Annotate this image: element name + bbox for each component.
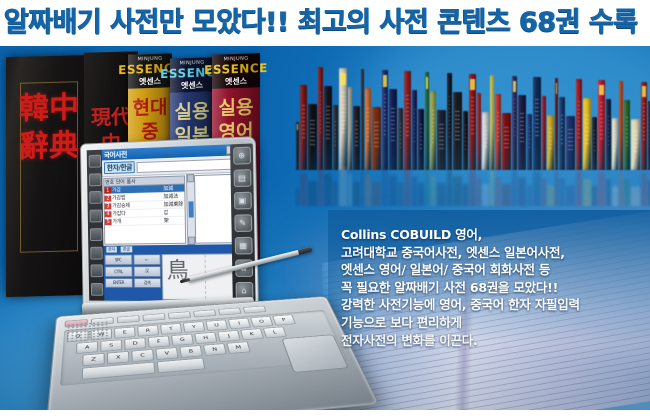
book-spine-mirror (361, 168, 364, 206)
book-spine-band (297, 124, 298, 130)
side-icon-2[interactable] (88, 173, 100, 186)
col-header-num: 번호 (104, 179, 115, 186)
book-spine-mirror (447, 169, 453, 206)
copy-line-1: Collins COBUILD 영어, (341, 226, 641, 244)
book-spine (418, 109, 425, 170)
book-spine-mirror (606, 179, 610, 206)
key-r[interactable]: R (137, 325, 159, 337)
key-o[interactable]: O (250, 316, 274, 327)
book-spine-mirror (612, 186, 619, 206)
function-key-f5[interactable] (193, 309, 217, 317)
book-spine-mirror (469, 170, 477, 206)
search-mode-tag[interactable]: 한자/한글 (104, 161, 135, 174)
enter-key[interactable] (157, 358, 206, 374)
hw-key-back[interactable]: ← (133, 254, 161, 265)
headline-band: 알짜배기 사전만 모았다!! 최고의 사전 콘텐츠 68권 수록 (0, 0, 650, 46)
book-spine-mirror (463, 184, 468, 206)
book-spine-mirror (425, 169, 428, 206)
side-icon-7[interactable] (90, 265, 103, 278)
book-spine-band (426, 77, 427, 89)
navigation-pad[interactable] (281, 334, 349, 373)
book-spine-band (383, 75, 387, 87)
key-d[interactable]: D (124, 337, 146, 349)
row-reading: 架 (164, 217, 185, 224)
copy-line-4: 꼭 필요한 알짜배기 사전 68권을 모았다!! (341, 279, 641, 297)
book-spine (382, 70, 388, 170)
row-word: 가감법 (112, 193, 163, 201)
book-spine-mirror (372, 182, 381, 206)
key-l[interactable]: L (263, 326, 287, 338)
lcd-screen[interactable]: 국어사전 한자/한글 (102, 144, 251, 302)
book-spine-mirror (619, 172, 622, 206)
function-key-f6[interactable] (218, 308, 242, 316)
book-spine (453, 92, 461, 170)
row-reading: 갑 (164, 209, 185, 216)
bookmark-icon[interactable]: ▣ (233, 191, 251, 209)
screen-right-icon-strip[interactable]: ⊕ ▤ ▣ ✎ ▦ ✿ ⌂ (230, 143, 256, 301)
grid-icon[interactable]: ▦ (234, 236, 252, 254)
hw-key-ctrl[interactable]: CTRL (105, 266, 132, 277)
book-spine (559, 97, 565, 170)
book-spine (398, 108, 403, 170)
book-spine-mirror (566, 185, 575, 206)
col-header-word: 단어 (115, 178, 126, 185)
book-spine (592, 117, 597, 170)
book-spine-mirror (542, 178, 546, 206)
function-key-f3[interactable] (142, 313, 165, 321)
book-icon[interactable]: ▤ (233, 169, 251, 187)
book-spine (404, 71, 412, 170)
key-c[interactable]: C (131, 349, 154, 362)
key-v[interactable]: V (155, 347, 178, 360)
book-spine-mirror (490, 170, 493, 206)
tab-hangul[interactable]: 한글 (120, 245, 133, 253)
tab-hanja[interactable]: 한자 (105, 246, 118, 254)
book-spine-mirror (559, 178, 565, 206)
hero-photo: 韓中辭典 現代中 MINJUNG ESSENCE 엣센스 현대중 MINJUNG… (0, 46, 650, 410)
copy-line-5: 강력한 사전기능에 영어, 중국어 한자 자필입력 (341, 296, 641, 314)
book-spine-mirror (365, 175, 371, 206)
row-number: 5 (105, 219, 112, 225)
book-spine (533, 77, 541, 170)
book-spine-mirror (533, 171, 541, 206)
side-icon-4[interactable] (89, 210, 101, 223)
row-word: 가갑다 (112, 209, 163, 217)
row-number: 2 (104, 195, 111, 201)
hw-key-search[interactable]: 검색 (133, 278, 161, 289)
scrollbar-thumb[interactable] (189, 201, 194, 217)
book-spine-band (556, 83, 557, 94)
word-list-row[interactable]: 5 가개 架 (105, 217, 185, 226)
page-title: 알짜배기 사전만 모았다!! 최고의 사전 콘텐츠 68권 수록 (4, 2, 650, 44)
book-spine (624, 100, 630, 170)
book-spine-mirror (353, 182, 360, 206)
row-word: 가개 (112, 217, 163, 225)
book-spine (566, 116, 575, 170)
row-reading: 加減乘除 (164, 201, 185, 209)
hw-key-enter[interactable]: ENTER (105, 278, 133, 289)
col-header-pos: 품사 (126, 178, 137, 185)
copy-line-6: 기능으로 보다 편리하게 (341, 314, 641, 332)
key-j[interactable]: J (217, 330, 241, 342)
book-spine-mirror (592, 186, 597, 206)
function-key-f7[interactable] (243, 306, 267, 314)
row-number: 3 (105, 203, 112, 209)
bottom-white-strip (0, 410, 650, 420)
handwriting-panel[interactable]: SPC ← CTRL 汉 ENTER 검색 鳥 (104, 252, 251, 301)
book-spine-mirror (527, 185, 532, 206)
book-spine-mirror (624, 179, 630, 206)
key-p[interactable]: P (272, 314, 296, 325)
book-spine-mirror (398, 182, 403, 206)
app-title: 국어사전 (104, 149, 127, 160)
book-spine-mirror (453, 176, 461, 206)
key-e[interactable]: E (114, 327, 136, 339)
book-spine (631, 119, 640, 170)
book-spine-mirror (437, 183, 446, 206)
copy-line-2: 고려대학교 중국어사전, 엣센스 일본어사전, (341, 244, 641, 262)
key-k[interactable]: K (240, 328, 264, 340)
book-spine-band (340, 73, 346, 85)
book-spine (469, 74, 477, 170)
book-spine (425, 72, 428, 170)
function-key-f2[interactable] (117, 315, 140, 323)
key-z[interactable]: Z (82, 353, 105, 366)
speaker-grille (66, 321, 109, 342)
book-spine-mirror (547, 185, 554, 206)
book-spine (353, 106, 360, 170)
device-lid: 국어사전 한자/한글 (80, 136, 259, 311)
key-n[interactable]: N (203, 343, 227, 356)
book-spine-mirror (477, 177, 481, 206)
book-spine-mirror (502, 184, 511, 206)
key-u[interactable]: U (205, 320, 228, 332)
side-icon-3[interactable] (89, 191, 101, 204)
book-spine (365, 88, 371, 170)
book-spine-mirror (576, 171, 582, 206)
lcd-body: 번호 단어 품사 1 가감 加減 2 (102, 172, 249, 245)
hw-key-spc[interactable]: SPC (105, 254, 132, 265)
book-spine (518, 95, 526, 170)
book-spine (641, 82, 647, 170)
book-spine (412, 90, 416, 170)
hw-key-hanja[interactable]: 汉 (133, 266, 161, 277)
promo-banner: 알짜배기 사전만 모았다!! 최고의 사전 콘텐츠 68권 수록 韓中辭典 現代… (0, 0, 650, 420)
key-m[interactable]: M (226, 341, 250, 354)
key-f[interactable]: F (148, 336, 171, 348)
key-x[interactable]: X (107, 351, 130, 364)
book-spine (463, 111, 468, 170)
row-number: 4 (105, 211, 112, 217)
book-spine (482, 112, 489, 170)
book-spine (527, 114, 532, 170)
copy-line-3: 엣센스 영어/ 일본어/ 중국어 회화사전 등 (341, 261, 641, 279)
electronic-dictionary-device: 국어사전 한자/한글 (60, 140, 350, 410)
book-spine (512, 76, 518, 170)
screen-bezel: 국어사전 한자/한글 (87, 144, 251, 302)
row-word: 가감 (112, 185, 163, 193)
book-spine (490, 75, 493, 170)
key-y[interactable]: Y (183, 321, 206, 333)
book-spine-band (513, 81, 517, 92)
side-icon-8[interactable] (90, 283, 103, 296)
key-t[interactable]: T (160, 323, 182, 335)
key-g[interactable]: G (171, 334, 194, 346)
book-spine-band (599, 85, 605, 96)
key-b[interactable]: B (179, 345, 203, 358)
book-spine (547, 115, 554, 170)
book-spine-mirror (555, 171, 558, 206)
function-key-f4[interactable] (168, 311, 191, 319)
book-spine-mirror (518, 177, 526, 206)
book-spine (583, 98, 591, 170)
key-h[interactable]: H (194, 332, 217, 344)
book-spine-mirror (641, 173, 647, 206)
book-spine (389, 89, 397, 170)
row-reading: 加減 (163, 184, 184, 192)
handwriting-keypad[interactable]: SPC ← CTRL 汉 ENTER 검색 (105, 254, 162, 300)
key-s[interactable]: S (100, 339, 122, 352)
side-icon-5[interactable] (89, 228, 102, 241)
book-spine-band (470, 79, 476, 91)
device-base: Q W E R T Y U I O P A S D (45, 296, 380, 410)
book-spine-mirror (495, 177, 501, 206)
book-spine-mirror (412, 176, 416, 206)
book-spine (447, 73, 453, 170)
body-copy: Collins COBUILD 영어, 고려대학교 중국어사전, 엣센스 일본어… (341, 226, 641, 349)
book-spine (437, 110, 446, 170)
book-spine-mirror (430, 176, 436, 206)
pencil-icon[interactable]: ✎ (234, 214, 252, 232)
book-spine-mirror (482, 184, 489, 206)
book-spine (495, 94, 501, 170)
key-a[interactable]: A (76, 341, 98, 354)
side-icon-1[interactable] (88, 155, 100, 168)
book-spine-mirror (389, 175, 397, 206)
book-spine (598, 80, 606, 170)
book-spine (555, 78, 558, 170)
row-reading: 加減法 (163, 193, 184, 201)
side-icon-6[interactable] (90, 246, 103, 259)
book-spine (477, 93, 481, 170)
copy-line-7: 전자사전의 변화를 이끈다. (341, 332, 641, 350)
book-spine (430, 91, 436, 170)
book-spine (612, 118, 619, 170)
book-spine-mirror (418, 183, 425, 206)
book-spine (372, 107, 381, 170)
row-number: 1 (104, 187, 111, 193)
book-spine (606, 99, 610, 170)
book-spine-band (642, 86, 646, 97)
globe-icon[interactable]: ⊕ (233, 146, 251, 164)
book-spine-mirror (631, 187, 640, 206)
word-list[interactable]: 번호 단어 품사 1 가감 加減 2 (103, 175, 186, 244)
row-word: 가감승제 (112, 201, 163, 209)
key-i[interactable]: I (228, 318, 251, 329)
book-spine-mirror (404, 168, 412, 206)
book-spine-mirror (512, 170, 518, 206)
book-spine (361, 69, 364, 170)
stylus-cap (298, 247, 313, 255)
book-spine-mirror (382, 168, 388, 206)
book-spine (619, 81, 622, 170)
book-spine-mirror (583, 179, 591, 206)
book-spine (576, 79, 582, 170)
book-spine-mirror (598, 172, 606, 206)
book-spine (542, 96, 546, 170)
book-spine (502, 113, 511, 170)
